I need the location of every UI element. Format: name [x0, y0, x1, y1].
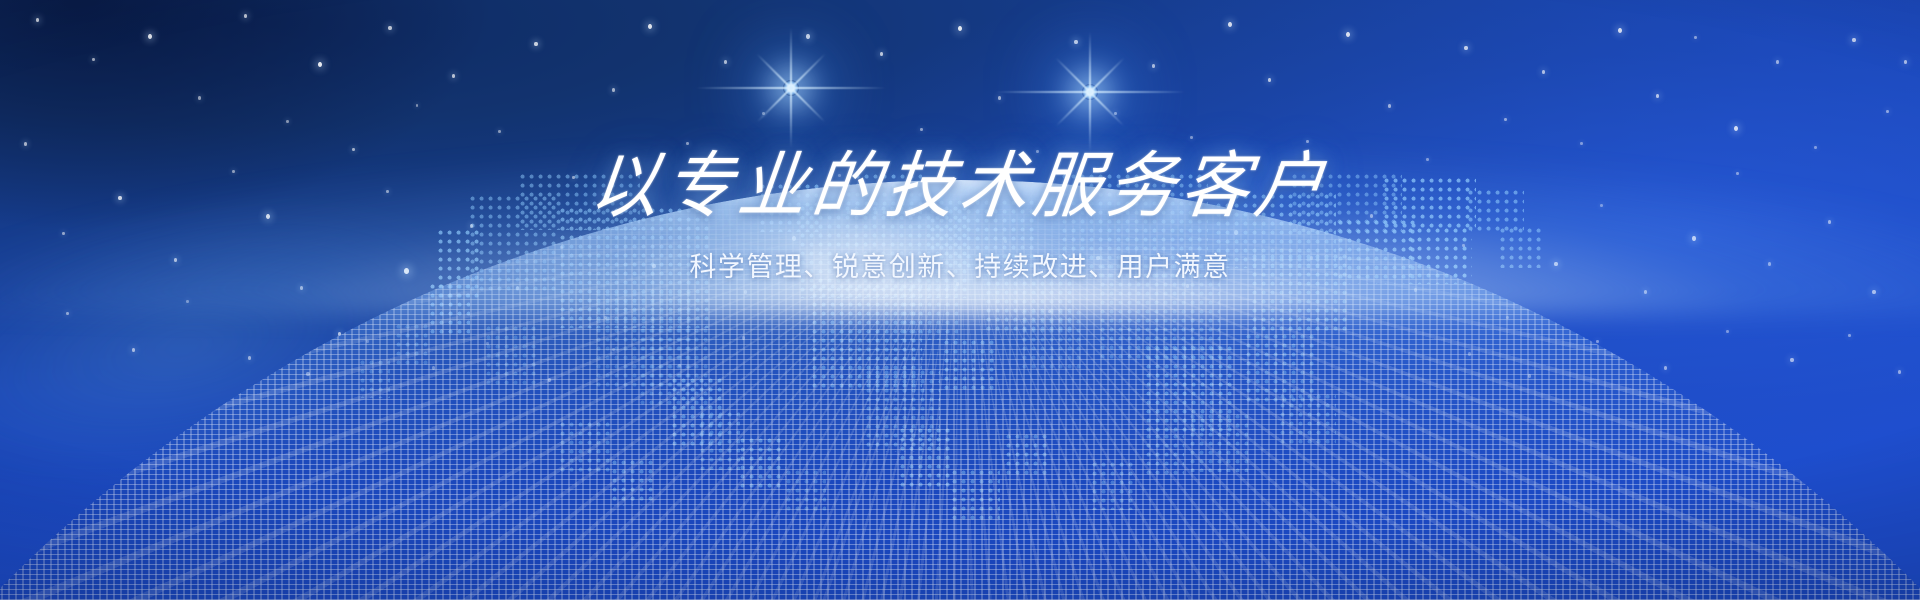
- banner-content: 以专业的技术服务客户 科学管理、锐意创新、持续改进、用户满意: [0, 0, 1920, 600]
- banner-headline: 以专业的技术服务客户: [586, 148, 1333, 226]
- hero-banner: 以专业的技术服务客户 科学管理、锐意创新、持续改进、用户满意: [0, 0, 1920, 600]
- banner-subline: 科学管理、锐意创新、持续改进、用户满意: [689, 245, 1230, 284]
